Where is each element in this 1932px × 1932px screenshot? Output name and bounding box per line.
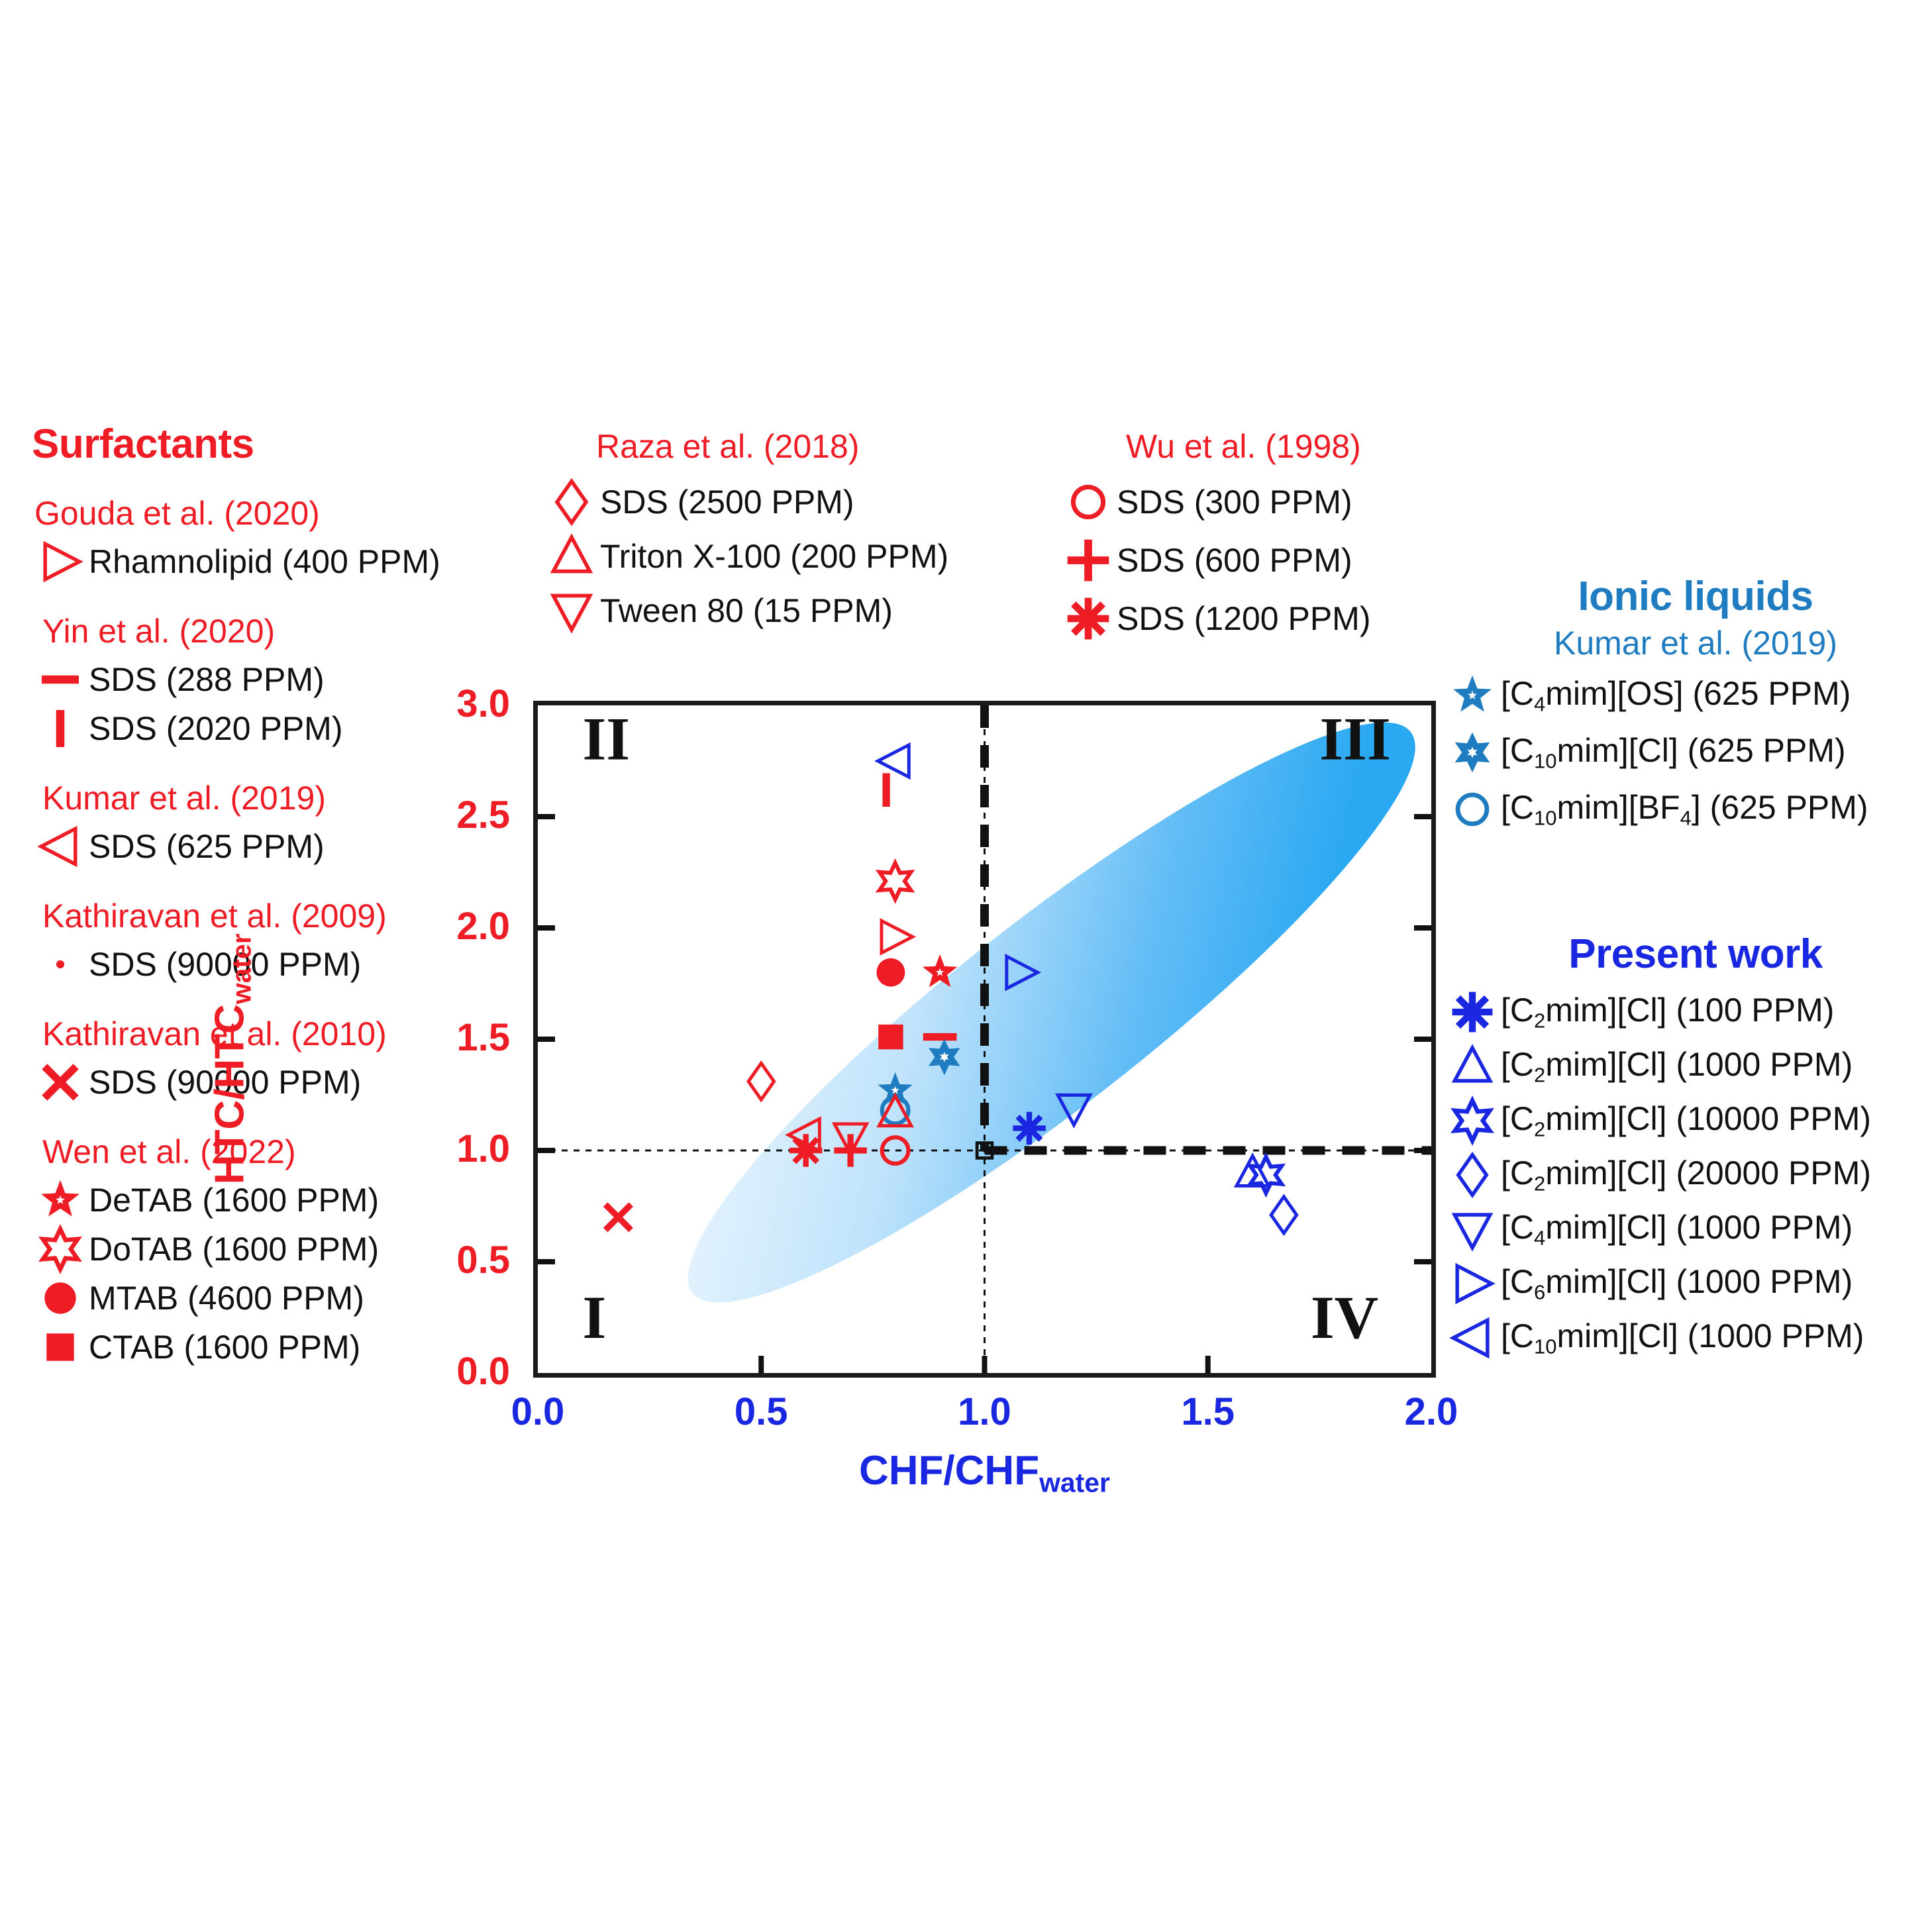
quadrant-label: III	[1319, 705, 1390, 773]
square-filled-icon	[32, 1326, 89, 1368]
data-point	[882, 921, 913, 952]
cross-x-icon	[32, 1061, 89, 1103]
legend-item-label: Triton X-100 (200 PPM)	[600, 537, 948, 576]
surfactant-group: Gouda et al. (2020)Rhamnolipid (400 PPM)	[32, 494, 495, 583]
legend-item-label: [C2mim][Cl] (100 PPM)	[1501, 991, 1834, 1033]
present-work-legend-title: Present work	[1464, 931, 1927, 978]
legend-item: SDS (600 PPM)	[1060, 538, 1370, 582]
legend-item-label: Tween 80 (15 PPM)	[600, 591, 893, 630]
vline-dash-icon	[32, 707, 89, 750]
dot-small-icon	[32, 943, 89, 986]
triangle-right-open-icon	[32, 540, 89, 583]
x-tick-label: 0.0	[478, 1390, 597, 1434]
legend-item-label: [C10mim][BF4] (625 PPM)	[1501, 788, 1868, 830]
triangle-up-open-icon	[1444, 1045, 1501, 1088]
legend-item: SDS (90000 PPM)	[32, 1061, 495, 1103]
star6-open-icon	[32, 1228, 89, 1270]
triangle-down-open-icon	[1444, 1208, 1501, 1250]
wu-legend-ref: Wu et al. (1998)	[1126, 427, 1370, 466]
wu-legend-items: SDS (300 PPM)SDS (600 PPM)SDS (1200 PPM)	[1060, 480, 1370, 640]
y-tick-label: 2.5	[391, 793, 510, 837]
y-tick-label: 1.0	[391, 1127, 510, 1171]
legend-item-label: [C2mim][Cl] (10000 PPM)	[1501, 1099, 1871, 1141]
raza-legend: Raza et al. (2018) SDS (2500 PPM)Triton …	[543, 427, 948, 643]
x-tick-label: 1.5	[1148, 1390, 1268, 1434]
wu-legend: Wu et al. (1998) SDS (300 PPM)SDS (600 P…	[1060, 427, 1370, 655]
legend-item-label: [C4mim][Cl] (1000 PPM)	[1501, 1208, 1853, 1250]
y-axis-title: HTC/HTCwater	[206, 807, 257, 1311]
diamond-open-icon	[543, 480, 600, 524]
y-tick-label: 2.0	[391, 904, 510, 948]
triangle-right-open-icon	[1444, 1262, 1501, 1305]
triangle-up-open-icon	[543, 534, 600, 578]
ionic-liquids-legend: Ionic liquids Kumar et al. (2019) [C4mim…	[1444, 573, 1927, 845]
legend-item: [C2mim][Cl] (20000 PPM)	[1444, 1154, 1927, 1196]
legend-item: Rhamnolipid (400 PPM)	[32, 540, 495, 583]
quadrant-label: I	[582, 1284, 606, 1351]
legend-item: SDS (2500 PPM)	[543, 480, 948, 524]
raza-legend-items: SDS (2500 PPM)Triton X-100 (200 PPM)Twee…	[543, 480, 948, 633]
legend-item: [C6mim][Cl] (1000 PPM)	[1444, 1262, 1927, 1305]
legend-item-label: CTAB (1600 PPM)	[89, 1328, 360, 1366]
legend-item: [C10mim][Cl] (625 PPM)	[1444, 731, 1927, 774]
surfactants-legend-title: Surfactants	[32, 421, 495, 468]
data-point	[880, 863, 911, 899]
legend-item-label: SDS (600 PPM)	[1117, 541, 1352, 580]
data-point	[878, 1025, 903, 1049]
legend-item-label: SDS (2020 PPM)	[89, 709, 342, 748]
legend-item: MTAB (4600 PPM)	[32, 1277, 495, 1319]
surfactant-group: Yin et al. (2020)SDS (288 PPM)SDS (2020 …	[32, 612, 495, 750]
circle-open-icon	[1444, 788, 1501, 831]
circle-filled-icon	[32, 1277, 89, 1319]
triangle-down-open-icon	[543, 589, 600, 633]
y-tick-label: 1.5	[391, 1015, 510, 1060]
legend-item: [C10mim][Cl] (1000 PPM)	[1444, 1317, 1927, 1359]
legend-item-label: [C2mim][Cl] (1000 PPM)	[1501, 1045, 1853, 1087]
quadrant-label: II	[582, 705, 630, 773]
legend-item: [C2mim][Cl] (10000 PPM)	[1444, 1099, 1927, 1142]
circle-open-icon	[1060, 480, 1117, 524]
present-work-legend: Present work [C2mim][Cl] (100 PPM)[C2mim…	[1444, 931, 1927, 1371]
present-work-legend-items: [C2mim][Cl] (100 PPM)[C2mim][Cl] (1000 P…	[1444, 991, 1927, 1359]
data-point	[748, 1063, 774, 1099]
legend-item-label: SDS (288 PPM)	[89, 660, 325, 699]
scatter-plot-svg: IIIIIIIV	[538, 705, 1431, 1373]
star6-filled-icon	[1444, 731, 1501, 774]
surfactant-group-ref: Yin et al. (2020)	[42, 612, 495, 650]
data-point	[605, 1205, 631, 1231]
ionic-liquids-legend-title: Ionic liquids	[1464, 573, 1927, 620]
plot-area: IIIIIIIV	[533, 701, 1436, 1378]
star5-filled-icon	[1444, 674, 1501, 717]
legend-item-label: [C6mim][Cl] (1000 PPM)	[1501, 1262, 1853, 1304]
data-point	[876, 958, 905, 987]
legend-item-label: SDS (2500 PPM)	[600, 483, 854, 521]
legend-item: [C4mim][Cl] (1000 PPM)	[1444, 1208, 1927, 1250]
y-tick-label: 0.5	[391, 1238, 510, 1282]
triangle-left-open-icon	[32, 825, 89, 868]
legend-item: SDS (1200 PPM)	[1060, 597, 1370, 640]
quadrant-label: IV	[1311, 1284, 1378, 1351]
ionic-liquids-legend-items: [C4mim][OS] (625 PPM)[C10mim][Cl] (625 P…	[1444, 674, 1927, 831]
x-tick-label: 2.0	[1372, 1390, 1491, 1434]
legend-item-label: [C2mim][Cl] (20000 PPM)	[1501, 1154, 1871, 1195]
data-point	[789, 1134, 822, 1166]
legend-item: SDS (90000 PPM)	[32, 943, 495, 986]
surfactant-group-ref: Gouda et al. (2020)	[34, 494, 495, 533]
star5-filled-icon	[32, 1179, 89, 1221]
legend-item-label: [C10mim][Cl] (625 PPM)	[1501, 731, 1846, 773]
legend-item: Tween 80 (15 PPM)	[543, 589, 948, 633]
x-axis-title: CHF/CHFwater	[533, 1447, 1436, 1498]
y-tick-label: 3.0	[391, 682, 510, 726]
legend-item-label: SDS (1200 PPM)	[1117, 599, 1370, 638]
legend-item-label: [C4mim][OS] (625 PPM)	[1501, 674, 1851, 716]
legend-item: [C2mim][Cl] (100 PPM)	[1444, 991, 1927, 1033]
raza-legend-ref: Raza et al. (2018)	[596, 427, 948, 466]
hline-dash-icon	[32, 658, 89, 701]
asterisk-icon	[1060, 597, 1117, 640]
legend-item-label: Rhamnolipid (400 PPM)	[89, 542, 440, 581]
plus-icon	[1060, 538, 1117, 582]
legend-item-label: SDS (300 PPM)	[1117, 483, 1352, 521]
x-tick-label: 1.0	[925, 1390, 1044, 1434]
legend-item: [C2mim][Cl] (1000 PPM)	[1444, 1045, 1927, 1088]
diamond-open-icon	[1444, 1154, 1501, 1196]
legend-item: Triton X-100 (200 PPM)	[543, 534, 948, 578]
legend-item: DeTAB (1600 PPM)	[32, 1179, 495, 1221]
surfactants-legend: Surfactants Gouda et al. (2020)Rhamnolip…	[32, 421, 495, 1375]
legend-item-label: [C10mim][Cl] (1000 PPM)	[1501, 1317, 1864, 1358]
data-point	[878, 745, 909, 777]
star6-open-icon	[1444, 1099, 1501, 1142]
x-tick-label: 0.5	[701, 1390, 821, 1434]
data-point	[1271, 1197, 1297, 1233]
triangle-left-open-icon	[1444, 1317, 1501, 1359]
legend-item: [C10mim][BF4] (625 PPM)	[1444, 788, 1927, 831]
legend-item: SDS (300 PPM)	[1060, 480, 1370, 524]
ionic-liquids-legend-ref: Kumar et al. (2019)	[1464, 624, 1927, 662]
data-point	[1013, 1112, 1045, 1144]
y-tick-label: 0.0	[391, 1349, 510, 1394]
asterisk-icon	[1444, 991, 1501, 1033]
legend-item: [C4mim][OS] (625 PPM)	[1444, 674, 1927, 717]
